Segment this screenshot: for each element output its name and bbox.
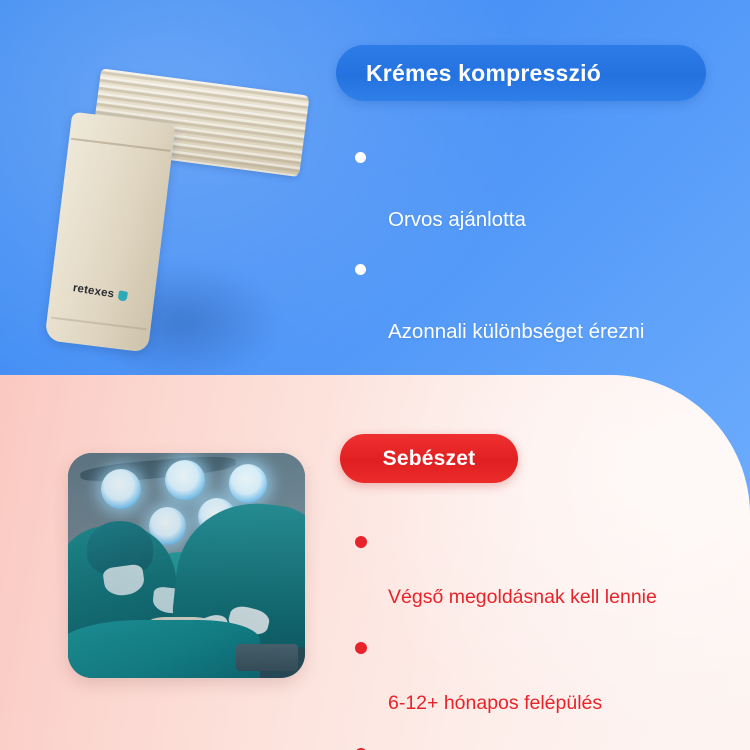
- list-item-label: Végső megoldásnak kell lennie: [388, 586, 657, 608]
- photo-color-tint: [68, 453, 305, 678]
- promo-poster: retexes Krémes kompresszió Orvos ajánlot…: [0, 0, 750, 750]
- list-item: Azonnali különbséget érezni: [355, 254, 720, 347]
- leaf-mark-icon: [117, 290, 127, 301]
- bullet-dot-icon: [355, 264, 366, 275]
- list-item: 6-12+ hónapos felépülés: [355, 633, 730, 717]
- brace-seam-top: [71, 138, 170, 152]
- brace-seam-bottom: [51, 317, 147, 331]
- bullet-dot-icon: [355, 642, 367, 654]
- brand-wordmark: retexes: [72, 282, 115, 300]
- list-item: Súlyosbíthatja a fájdalmat: [355, 739, 730, 750]
- badge-surgery[interactable]: Sebészet: [340, 434, 518, 483]
- badge-surgery-label: Sebészet: [383, 447, 476, 471]
- drawbacks-list-surgery: Végső megoldásnak kell lennie 6-12+ hóna…: [355, 527, 730, 750]
- list-item-label: Azonnali különbséget érezni: [388, 320, 644, 343]
- brand-logo: retexes: [72, 282, 128, 302]
- list-item-label: 6-12+ hónapos felépülés: [388, 692, 602, 714]
- surgery-photo: [68, 453, 305, 678]
- bullet-dot-icon: [355, 536, 367, 548]
- bullet-dot-icon: [355, 152, 366, 163]
- list-item: Végső megoldásnak kell lennie: [355, 527, 730, 611]
- badge-cream-compression-label: Krémes kompresszió: [366, 60, 601, 87]
- list-item: Orvos ajánlotta: [355, 142, 720, 235]
- badge-cream-compression[interactable]: Krémes kompresszió: [336, 45, 706, 101]
- list-item-label: Orvos ajánlotta: [388, 208, 526, 231]
- product-image-compression-brace: retexes: [62, 62, 322, 362]
